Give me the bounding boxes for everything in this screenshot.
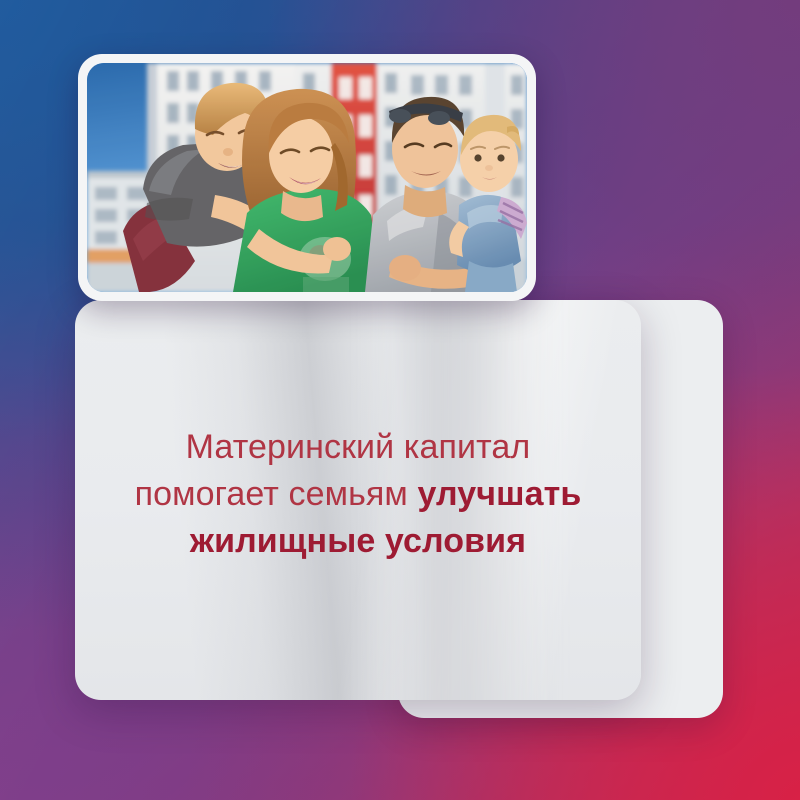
headline-line-1: Материнский капитал: [75, 424, 641, 471]
headline-line-3: жилищные условия: [75, 518, 641, 565]
photo-frame: [78, 54, 536, 301]
headline: Материнский капитал помогает семьям улуч…: [75, 424, 641, 565]
headline-line-2-regular: помогает семьям: [135, 475, 418, 513]
headline-line-2-bold: улучшать: [417, 475, 581, 513]
family-photo-illustration: [87, 63, 527, 292]
headline-line-3-bold: жилищные условия: [190, 522, 526, 560]
headline-line-2: помогает семьям улучшать: [75, 471, 641, 518]
family-photo: [87, 63, 527, 292]
